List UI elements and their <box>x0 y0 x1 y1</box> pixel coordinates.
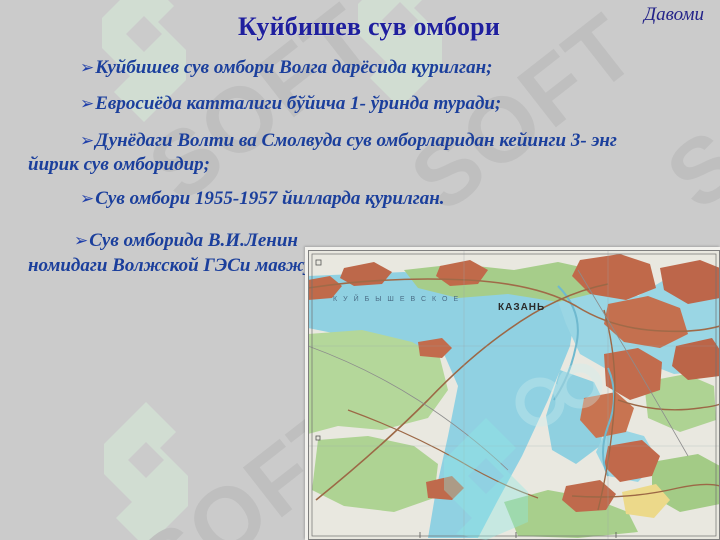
list-item-text: Сув омбори 1955-1957 йилларда қурилган. <box>95 188 444 209</box>
arrow-bullet-icon: ➢ <box>80 131 94 150</box>
slide-title-text: Куйбишев сув омбори <box>220 12 500 42</box>
arrow-bullet-icon: ➢ <box>80 94 94 113</box>
continuation-note: Давоми <box>644 4 704 26</box>
arrow-bullet-icon: ➢ <box>80 58 94 77</box>
topographic-map-graphic <box>308 250 720 540</box>
map-image: КУЙБЫШЕВСКОЕ КАЗАНЬ <box>305 247 720 540</box>
arrow-bullet-icon: ➢ <box>80 189 94 208</box>
list-item-text: Евросиёда катталиги бўйича 1- ўринда тур… <box>95 93 501 114</box>
list-item: ➢Евросиёда катталиги бўйича 1- ўринда ту… <box>0 92 660 116</box>
list-item: ➢Куйбишев сув омбори Волга дарёсида қури… <box>0 56 660 80</box>
list-item: ➢Дунёдаги Волти ва Смолвуда сув омборлар… <box>0 129 660 178</box>
list-item-text: Сув омборида В.И.Ленин номидаги Волжской… <box>28 230 327 276</box>
list-item-text: Куйбишев сув омбори Волга дарёсида қурил… <box>95 57 492 78</box>
list-item-text: Дунёдаги Волти ва Смолвуда сув омборлари… <box>28 130 617 175</box>
slide-canvas: SOFT SOFT SOFT SOFT Куйбишев сув омбори … <box>0 0 720 540</box>
list-item: ➢Сув омборида В.И.Ленин номидаги Волжско… <box>0 228 328 279</box>
arrow-bullet-icon: ➢ <box>74 231 88 250</box>
watermark-logo-icon <box>98 400 194 540</box>
map-canvas: КУЙБЫШЕВСКОЕ КАЗАНЬ <box>308 250 720 540</box>
slide-title: Куйбишев сув омбори <box>0 12 720 42</box>
list-item: ➢Сув омбори 1955-1957 йилларда қурилган. <box>0 187 660 211</box>
